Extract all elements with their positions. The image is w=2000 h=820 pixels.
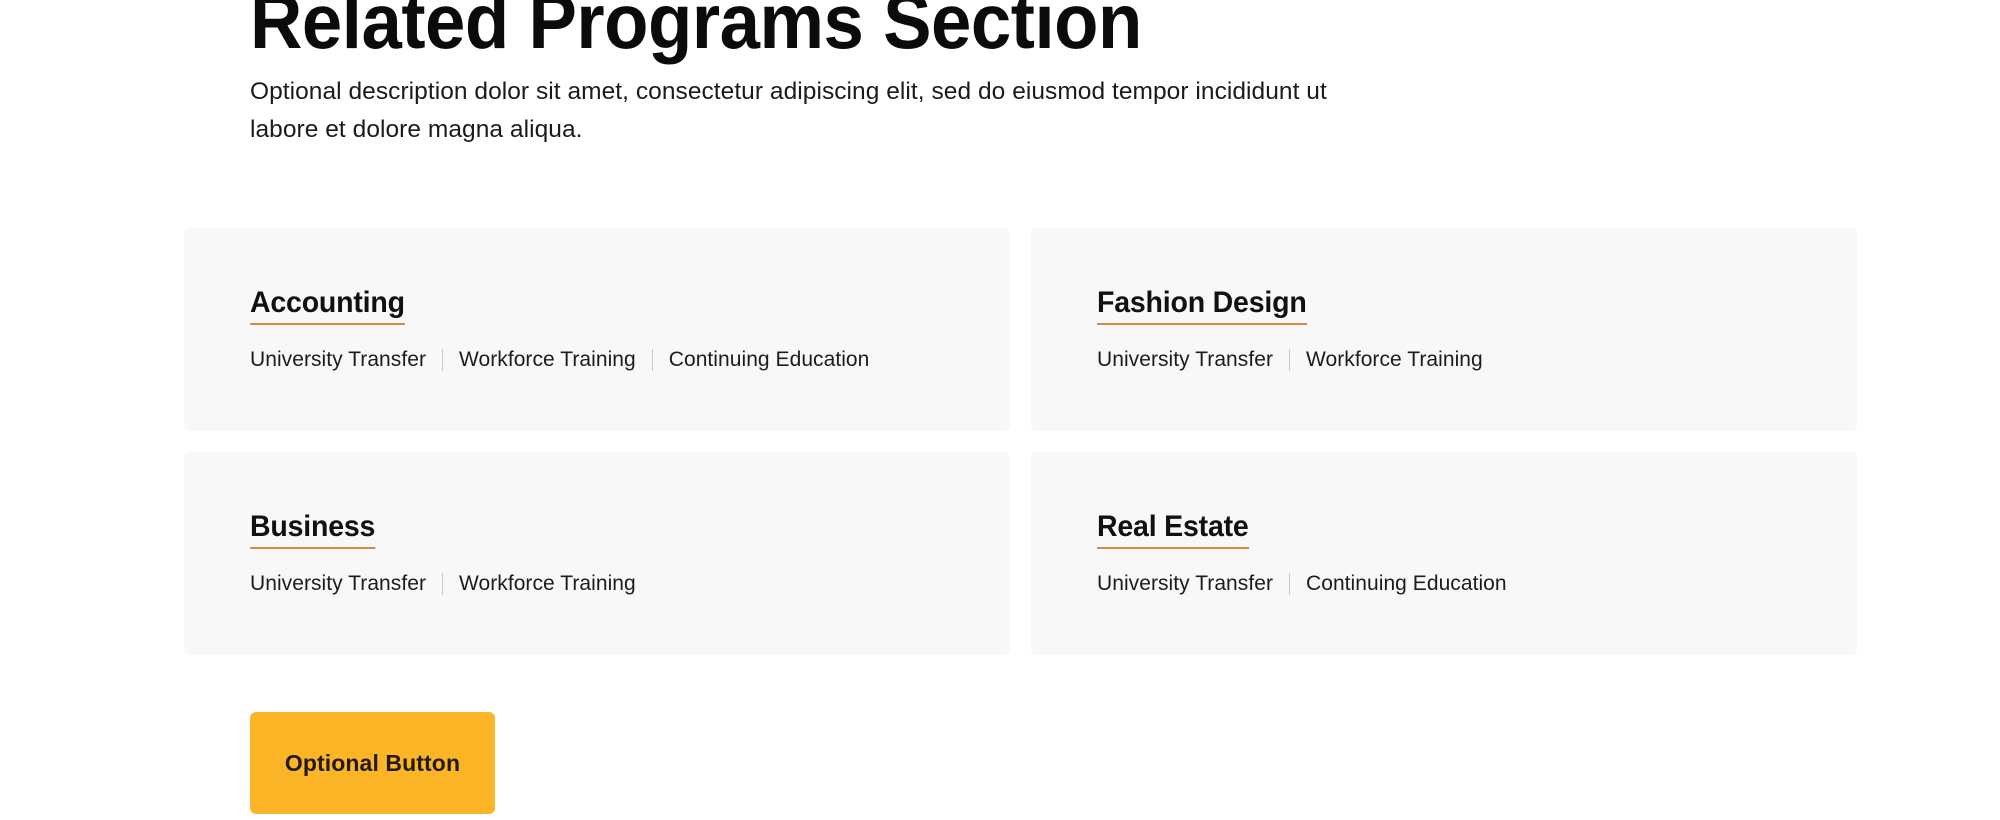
tag-separator-icon [442,573,443,595]
program-tag: Continuing Education [669,347,870,372]
program-title-wrap: Real Estate [1097,511,1857,550]
program-tag-list: University Transfer Continuing Education [1097,571,1857,596]
related-programs-section: Related Programs Section Optional descri… [0,0,2000,820]
program-tag-list: University Transfer Workforce Training C… [250,347,1010,372]
tag-separator-icon [1289,349,1290,371]
program-title-wrap: Business [250,511,1010,550]
program-link-business[interactable]: Business [250,511,375,550]
program-tag: Workforce Training [1306,347,1483,372]
section-description: Optional description dolor sit amet, con… [250,73,1350,149]
optional-cta-button[interactable]: Optional Button [250,712,495,814]
program-tag-list: University Transfer Workforce Training [250,571,1010,596]
program-link-real-estate[interactable]: Real Estate [1097,511,1249,550]
program-tag: Workforce Training [459,571,636,596]
program-title-wrap: Fashion Design [1097,287,1857,326]
program-card-grid: Accounting University Transfer Workforce… [184,228,1857,655]
program-card[interactable]: Accounting University Transfer Workforce… [184,228,1010,431]
program-link-accounting[interactable]: Accounting [250,287,405,326]
program-title-wrap: Accounting [250,287,1010,326]
program-tag-list: University Transfer Workforce Training [1097,347,1857,372]
tag-separator-icon [652,349,653,371]
section-header: Related Programs Section Optional descri… [250,0,1860,148]
program-tag: University Transfer [250,347,426,372]
program-tag: University Transfer [1097,347,1273,372]
program-tag: Workforce Training [459,347,636,372]
program-tag: University Transfer [1097,571,1273,596]
program-link-fashion-design[interactable]: Fashion Design [1097,287,1307,326]
program-tag: Continuing Education [1306,571,1507,596]
program-card[interactable]: Real Estate University Transfer Continui… [1031,452,1857,655]
program-card[interactable]: Fashion Design University Transfer Workf… [1031,228,1857,431]
cta-row: Optional Button [250,712,495,814]
program-tag: University Transfer [250,571,426,596]
tag-separator-icon [442,349,443,371]
page-title: Related Programs Section [250,0,1747,58]
program-card[interactable]: Business University Transfer Workforce T… [184,452,1010,655]
tag-separator-icon [1289,573,1290,595]
